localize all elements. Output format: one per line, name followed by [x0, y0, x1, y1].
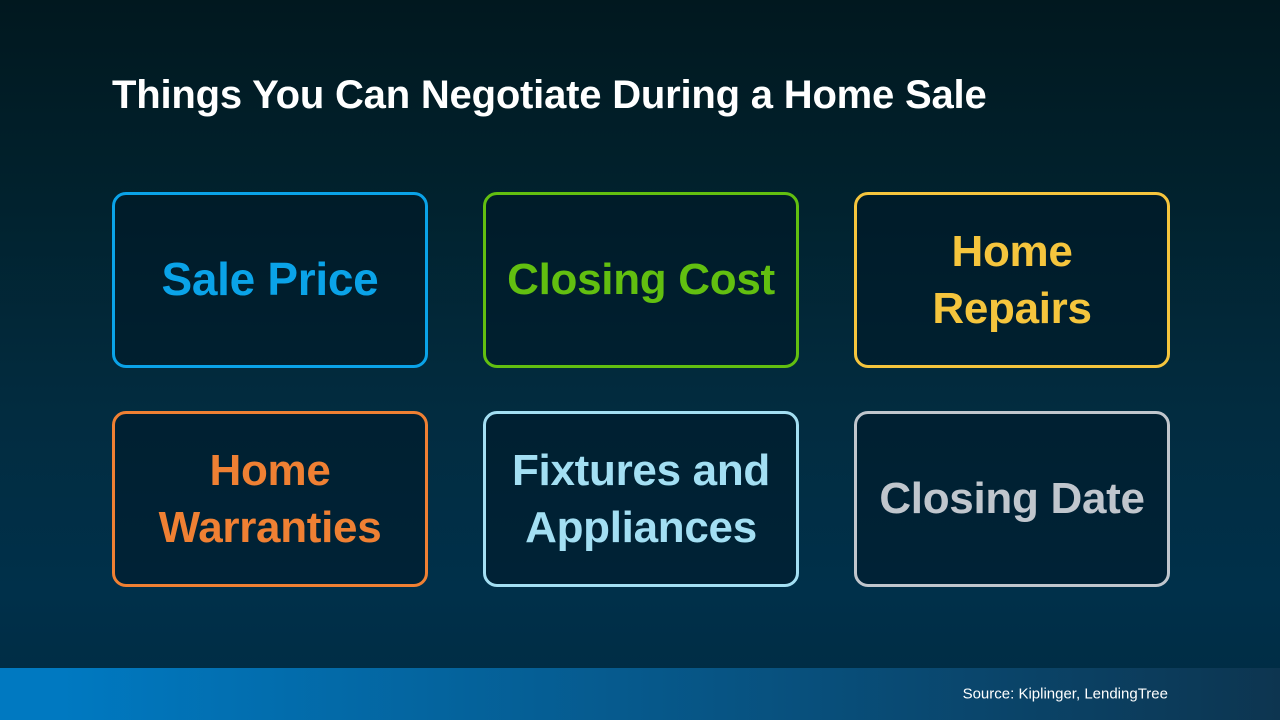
card-label: Sale Price [162, 250, 379, 310]
card-label: Closing Cost [507, 251, 775, 308]
card-home-repairs[interactable]: Home Repairs [854, 192, 1170, 368]
card-label: Home Warranties [129, 442, 411, 556]
card-sale-price[interactable]: Sale Price [112, 192, 428, 368]
footer-bar: Source: Kiplinger, LendingTree [0, 668, 1280, 720]
card-home-warranties[interactable]: Home Warranties [112, 411, 428, 587]
card-closing-date[interactable]: Closing Date [854, 411, 1170, 587]
card-label: Closing Date [879, 470, 1144, 527]
page-title: Things You Can Negotiate During a Home S… [112, 72, 1172, 118]
card-label: Fixtures and Appliances [500, 442, 782, 556]
source-attribution: Source: Kiplinger, LendingTree [963, 686, 1168, 703]
negotiable-items-grid: Sale Price Closing Cost Home Repairs Hom… [112, 192, 1169, 587]
card-label: Home Repairs [871, 223, 1153, 337]
slide-canvas: Things You Can Negotiate During a Home S… [0, 0, 1280, 720]
card-fixtures-and-appliances[interactable]: Fixtures and Appliances [483, 411, 799, 587]
card-closing-cost[interactable]: Closing Cost [483, 192, 799, 368]
